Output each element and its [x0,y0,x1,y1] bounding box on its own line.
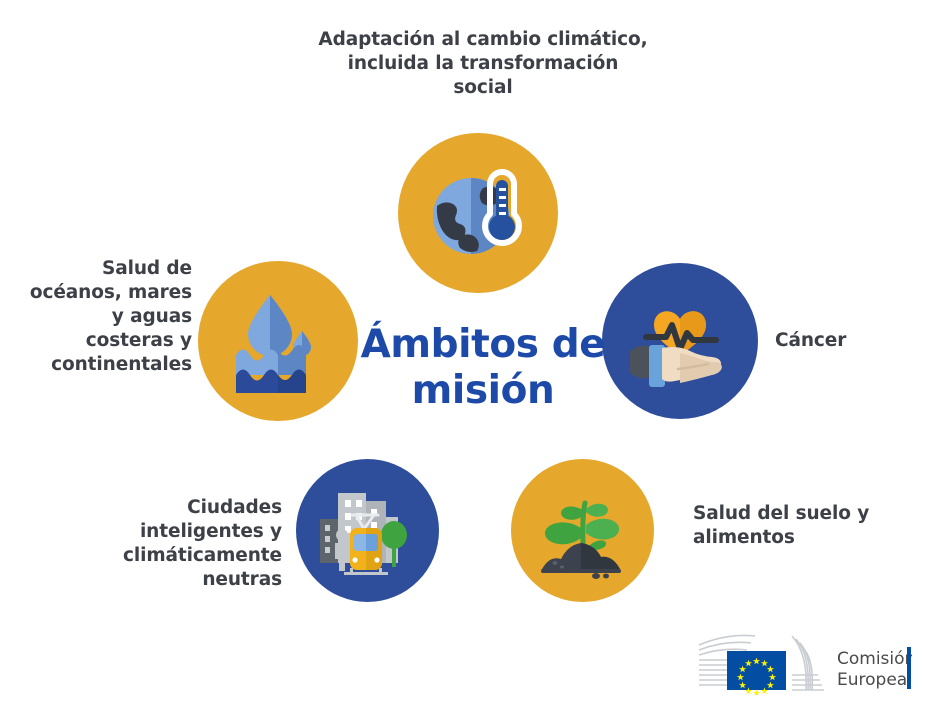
logo-blue-bar [907,647,911,689]
seedling-soil-icon [533,481,633,581]
logo-text-line2: Europea [837,670,907,690]
mission-label-soil: Salud del suelo y alimentos [693,502,883,550]
infographic-canvas: Adaptación al cambio climático, incluida… [0,0,951,712]
mission-icon-soil [511,459,654,602]
city-tram-icon [316,479,420,583]
mission-label-water: Salud de océanos, mares y aguas costeras… [20,257,192,377]
mission-label-climate: Adaptación al cambio climático, incluida… [318,28,648,100]
hand-heart-pulse-icon [624,285,736,397]
globe-thermometer-icon [423,158,533,268]
eu-logo-graphic: Comisión Europea [697,633,912,695]
mission-icon-water [198,261,358,421]
mission-icon-cities [296,459,439,602]
european-commission-logo: Comisión Europea [697,633,912,695]
logo-text-line1: Comisión [837,649,912,669]
water-drop-icon [226,289,330,393]
mission-label-cities: Ciudades inteligentes y climáticamente n… [70,496,282,592]
page-title: Ámbitos de misión [338,322,628,414]
mission-label-cancer: Cáncer [775,329,935,353]
mission-icon-climate [398,133,558,293]
